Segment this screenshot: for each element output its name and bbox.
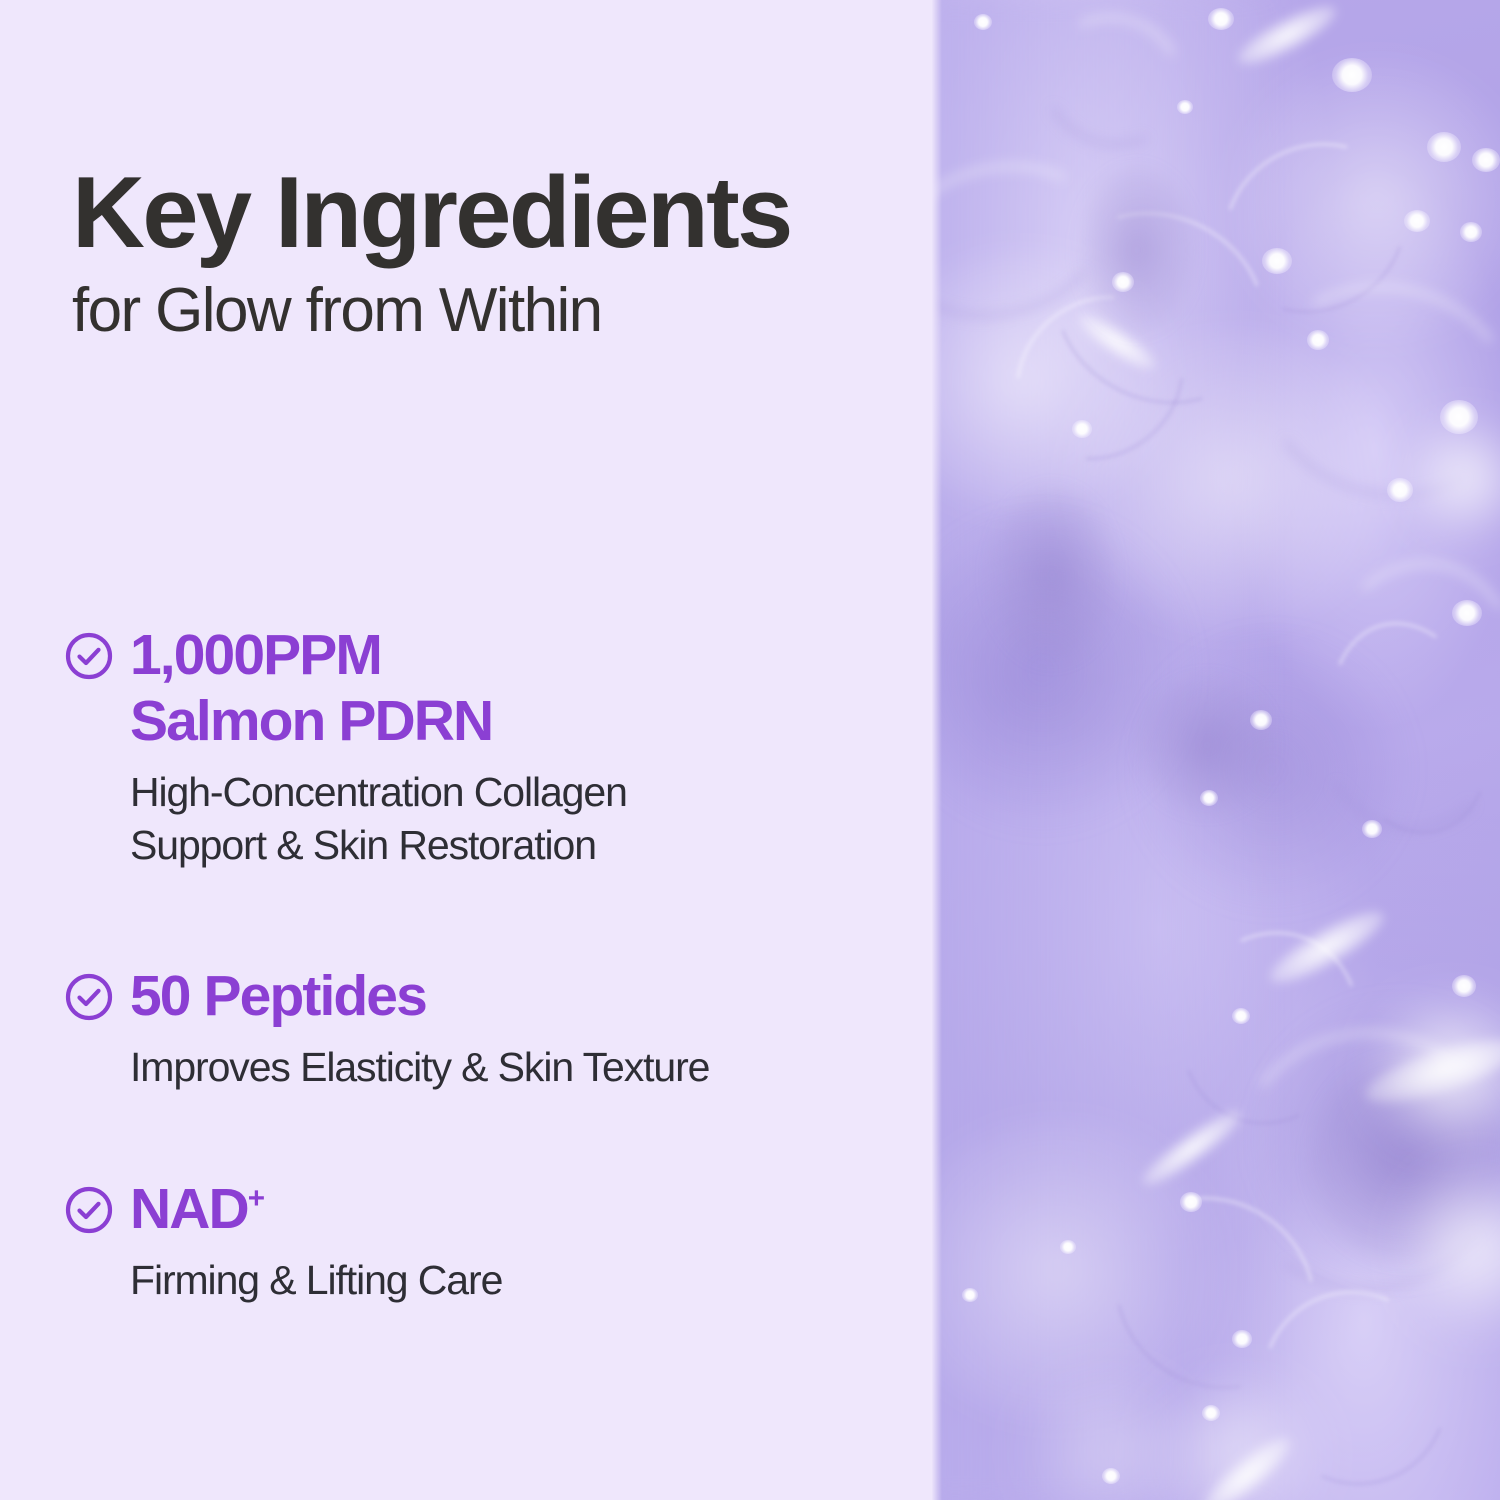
bokeh-highlight: [1072, 420, 1092, 438]
page-subtitle: for Glow from Within: [72, 278, 892, 345]
gel-serum-texture-photo: [932, 0, 1500, 1500]
ingredient-title: 50 Peptides: [130, 963, 426, 1029]
ingredient-heading: 1,000PPM Salmon PDRN: [64, 622, 904, 754]
check-circle-icon: [64, 1185, 114, 1235]
spacer: [64, 1094, 904, 1176]
bokeh-highlight: [1472, 148, 1500, 172]
bokeh-highlight: [1460, 222, 1482, 242]
bokeh-highlight: [962, 1288, 978, 1302]
heading-block: Key Ingredients for Glow from Within: [72, 163, 892, 345]
bokeh-highlight: [1307, 330, 1329, 350]
ingredient-list: 1,000PPM Salmon PDRN High-Concentration …: [64, 622, 904, 1306]
ingredient-title-line1: NAD: [130, 1177, 248, 1241]
spacer: [64, 871, 904, 963]
bokeh-highlight: [1112, 272, 1134, 292]
key-ingredients-infographic: Key Ingredients for Glow from Within 1,0…: [0, 0, 1500, 1500]
panel-edge-fade: [932, 0, 942, 1500]
ingredient-title-line1: 50 Peptides: [130, 964, 426, 1028]
ingredient-description: Firming & Lifting Care: [130, 1254, 904, 1306]
bokeh-highlight: [1200, 790, 1218, 806]
ingredient-description: High-Concentration Collagen Support & Sk…: [130, 766, 904, 871]
bokeh-highlight: [1060, 1240, 1076, 1254]
check-circle-icon: [64, 972, 114, 1022]
gel-dark-wisp: [992, 490, 1112, 660]
gel-dark-wisp: [1082, 170, 1192, 330]
bokeh-highlight: [1177, 100, 1193, 114]
bokeh-highlight: [1332, 58, 1372, 92]
check-circle-icon: [64, 631, 114, 681]
ingredient-heading: 50 Peptides: [64, 963, 904, 1029]
bokeh-highlight: [1232, 1330, 1252, 1348]
bokeh-highlight: [974, 14, 992, 30]
bokeh-highlight: [1180, 1192, 1202, 1212]
bokeh-highlight: [1262, 248, 1292, 274]
ingredient-item-pdrn: 1,000PPM Salmon PDRN High-Concentration …: [64, 622, 904, 871]
bokeh-highlight: [1208, 8, 1234, 30]
bokeh-highlight: [1452, 600, 1482, 626]
ingredient-title-superscript: +: [248, 1182, 265, 1215]
ingredient-title-line2: Salmon PDRN: [130, 689, 492, 753]
ingredient-title: NAD+: [130, 1176, 265, 1242]
ingredient-item-nad: NAD+ Firming & Lifting Care: [64, 1176, 904, 1307]
bokeh-highlight: [1427, 132, 1461, 162]
text-panel: Key Ingredients for Glow from Within 1,0…: [0, 0, 932, 1500]
bokeh-highlight: [1250, 710, 1272, 730]
page-title: Key Ingredients: [72, 163, 892, 264]
ingredient-item-peptides: 50 Peptides Improves Elasticity & Skin T…: [64, 963, 904, 1094]
ingredient-title-line1: 1,000PPM: [130, 623, 381, 687]
ingredient-title: 1,000PPM Salmon PDRN: [130, 622, 492, 754]
bokeh-highlight: [1232, 1008, 1250, 1024]
ingredient-description: Improves Elasticity & Skin Texture: [130, 1041, 904, 1093]
bokeh-highlight: [1452, 975, 1476, 997]
bokeh-highlight: [1362, 820, 1382, 838]
bokeh-highlight: [1404, 210, 1430, 232]
ingredient-heading: NAD+: [64, 1176, 904, 1242]
